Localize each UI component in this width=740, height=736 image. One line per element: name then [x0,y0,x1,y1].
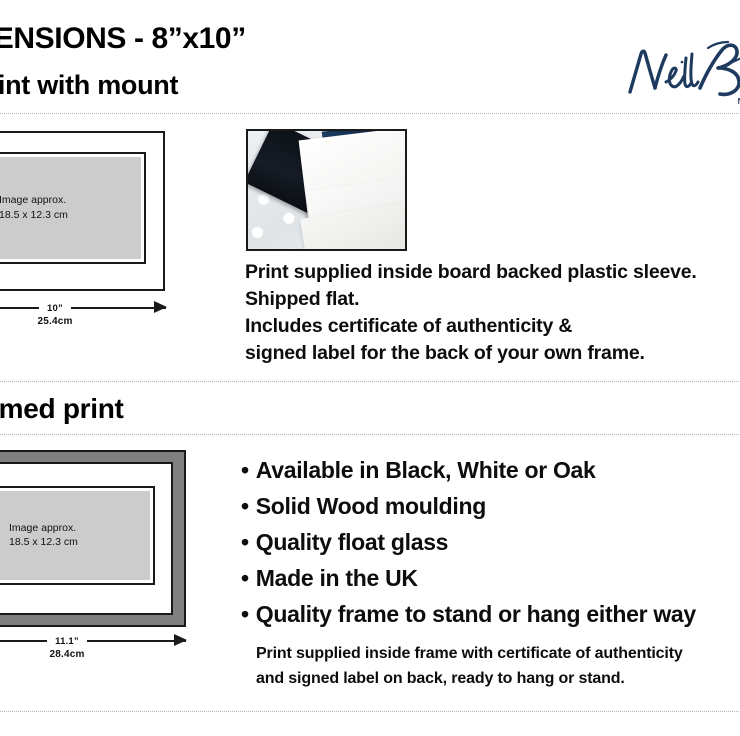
mount-image-label: Image approx. 18.5 x 12.3 cm [0,193,68,223]
mount-width-cm: 25.4cm [0,316,130,327]
frame-diagram: Image approx. 18.5 x 12.3 cm [0,450,186,627]
frame-width-dimension: 11.1” 28.4cm [0,631,186,665]
list-item-label: Available in Black, White or Oak [256,457,596,483]
mount-description-line-2: Shipped flat. [245,286,697,313]
bullet-icon: • [241,529,249,555]
frame-width-cm: 28.4cm [0,649,150,660]
frame-feature-list: •Available in Black, White or Oak •Solid… [241,452,696,632]
mount-description-line-4: signed label for the back of your own fr… [245,340,697,367]
frame-description-line-1: Print supplied inside frame with certifi… [256,641,683,666]
dimension-line [0,307,166,309]
dimension-label: 11.1” 28.4cm [0,631,150,660]
list-item-label: Made in the UK [256,565,418,591]
packaging-photo [246,129,407,251]
page-canvas: DIMENSIONS - 8”x10” Print with mount NB … [0,0,740,736]
mount-window: Image approx. 18.5 x 12.3 cm [0,152,146,264]
frame-mount: Image approx. 18.5 x 12.3 cm [0,462,173,615]
mount-image-label-line1: Image approx. [0,193,68,208]
list-item-label: Quality float glass [256,529,448,555]
frame-description: Print supplied inside frame with certifi… [256,641,683,691]
divider-section-framed-top [0,381,740,382]
mount-image-label-line2: 18.5 x 12.3 cm [0,208,68,223]
bullet-icon: • [241,493,249,519]
signature-icon [622,38,740,110]
arrow-right-icon [174,634,187,646]
mount-width-inches: 10” [39,299,71,318]
bullet-icon: • [241,601,249,627]
bullet-icon: • [241,565,249,591]
divider-section-framed-bottom [0,434,740,435]
frame-image-area: Image approx. 18.5 x 12.3 cm [0,491,150,580]
frame-image-label-line1: Image approx. [9,521,78,536]
list-item: •Quality float glass [241,524,696,560]
section-title-framed-print: Framed print [0,393,124,425]
page-title: DIMENSIONS - 8”x10” [0,22,246,56]
list-item: •Quality frame to stand or hang either w… [241,596,696,632]
frame-image-label: Image approx. 18.5 x 12.3 cm [9,521,78,551]
list-item: •Available in Black, White or Oak [241,452,696,488]
list-item-label: Quality frame to stand or hang either wa… [256,601,696,627]
mount-description-line-1: Print supplied inside board backed plast… [245,259,697,286]
dimension-label: 10” 25.4cm [0,298,130,327]
bullet-icon: • [241,457,249,483]
divider-header [0,113,740,114]
divider-footer [0,711,740,712]
brand-logo: NB [622,38,740,110]
frame-image-label-line2: 18.5 x 12.3 cm [9,536,78,551]
list-item-label: Solid Wood moulding [256,493,486,519]
mount-image-area: Image approx. 18.5 x 12.3 cm [0,157,141,259]
dimension-line [0,640,186,642]
frame-width-inches: 11.1” [47,632,87,651]
mount-description-line-3: Includes certificate of authenticity & [245,313,697,340]
arrow-right-icon [154,301,167,313]
list-item: •Solid Wood moulding [241,488,696,524]
page-subtitle: Print with mount [0,70,178,101]
mount-description: Print supplied inside board backed plast… [245,259,697,367]
frame-window: Image approx. 18.5 x 12.3 cm [0,486,155,585]
mount-width-dimension: 10” 25.4cm [0,298,166,332]
mount-diagram: Image approx. 18.5 x 12.3 cm [0,131,165,291]
frame-description-line-2: and signed label on back, ready to hang … [256,666,683,691]
list-item: •Made in the UK [241,560,696,596]
